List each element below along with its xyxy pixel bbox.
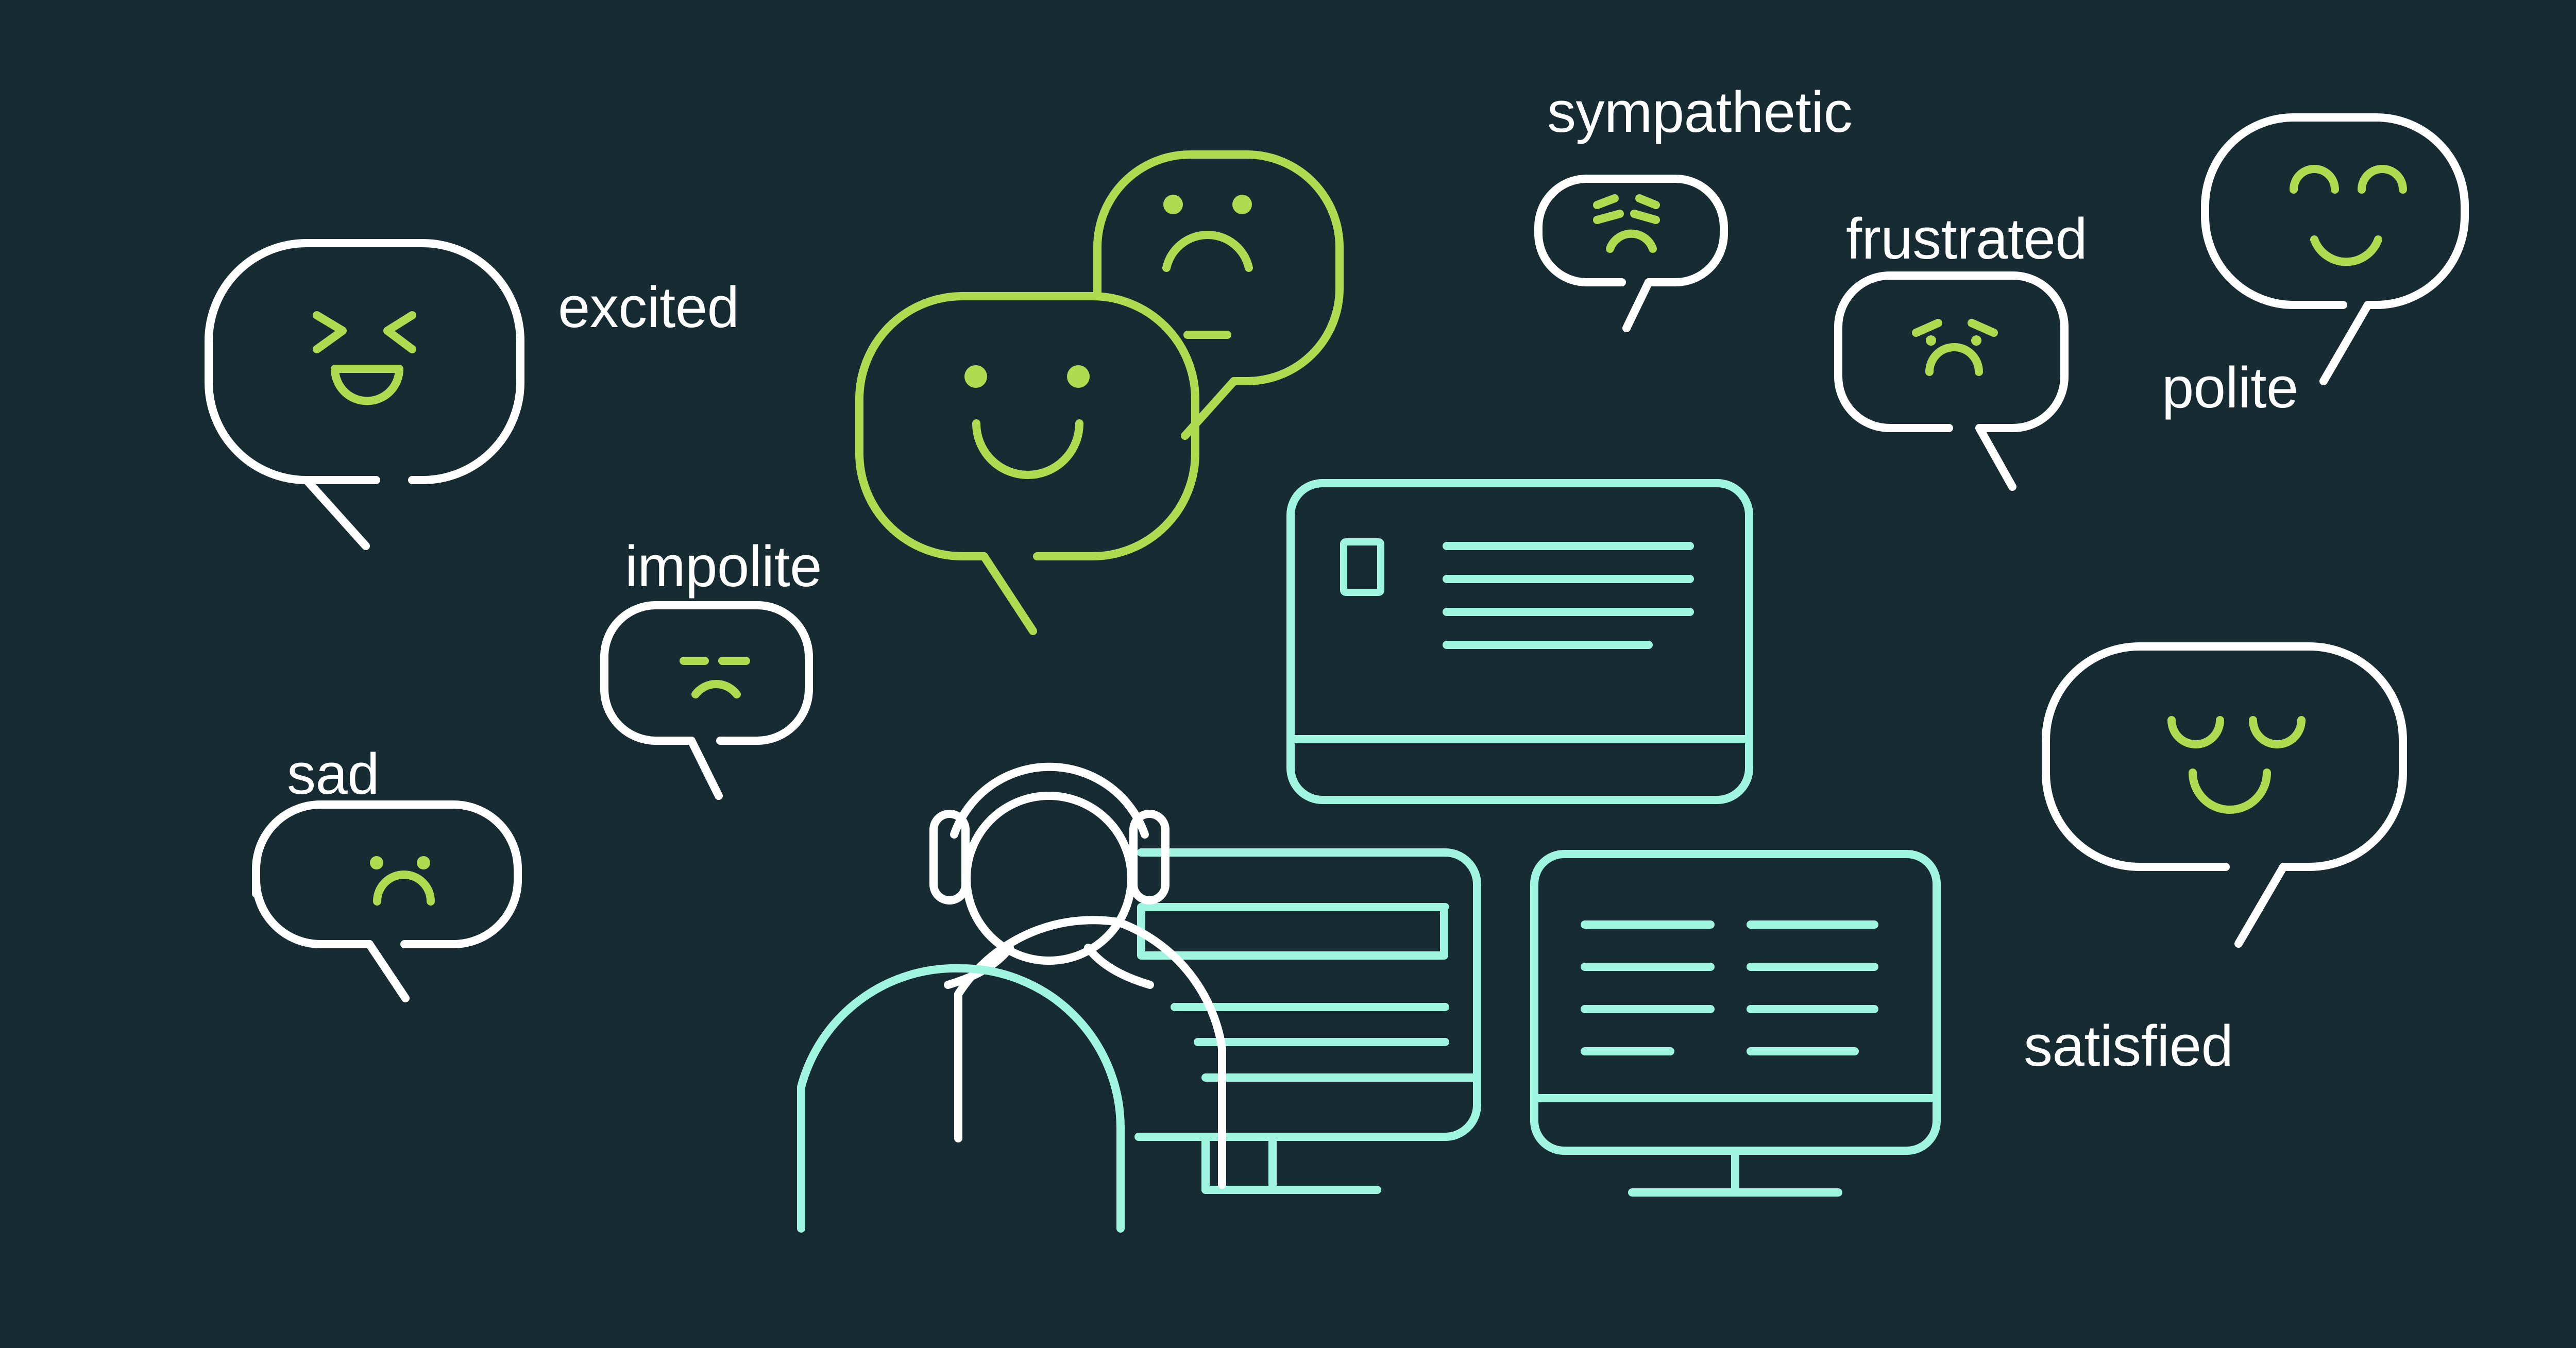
- label-excited: excited: [558, 279, 739, 336]
- illustration-canvas: excited sympathetic frustrated polite im…: [0, 0, 2576, 1348]
- bubble-green-frown-eye-right: [1232, 195, 1252, 214]
- bubble-green-smile-eye-right: [1067, 365, 1090, 388]
- bubble-frustrated-eye-right: [1971, 335, 1981, 346]
- bubble-green-smile-eye-left: [964, 365, 987, 388]
- label-impolite: impolite: [625, 538, 822, 595]
- bubble-frustrated-eye-left: [1926, 335, 1936, 346]
- illustration-svg: [0, 0, 2576, 1348]
- bubble-sad-eye-right: [417, 856, 430, 869]
- bubble-green-frown-eye-left: [1163, 195, 1183, 214]
- label-frustrated: frustrated: [1846, 210, 2087, 268]
- bubble-sad-eye-left: [370, 856, 383, 869]
- label-polite: polite: [2162, 359, 2298, 417]
- label-sympathetic: sympathetic: [1547, 83, 1852, 141]
- label-satisfied: satisfied: [2024, 1017, 2233, 1075]
- label-sad: sad: [287, 745, 379, 803]
